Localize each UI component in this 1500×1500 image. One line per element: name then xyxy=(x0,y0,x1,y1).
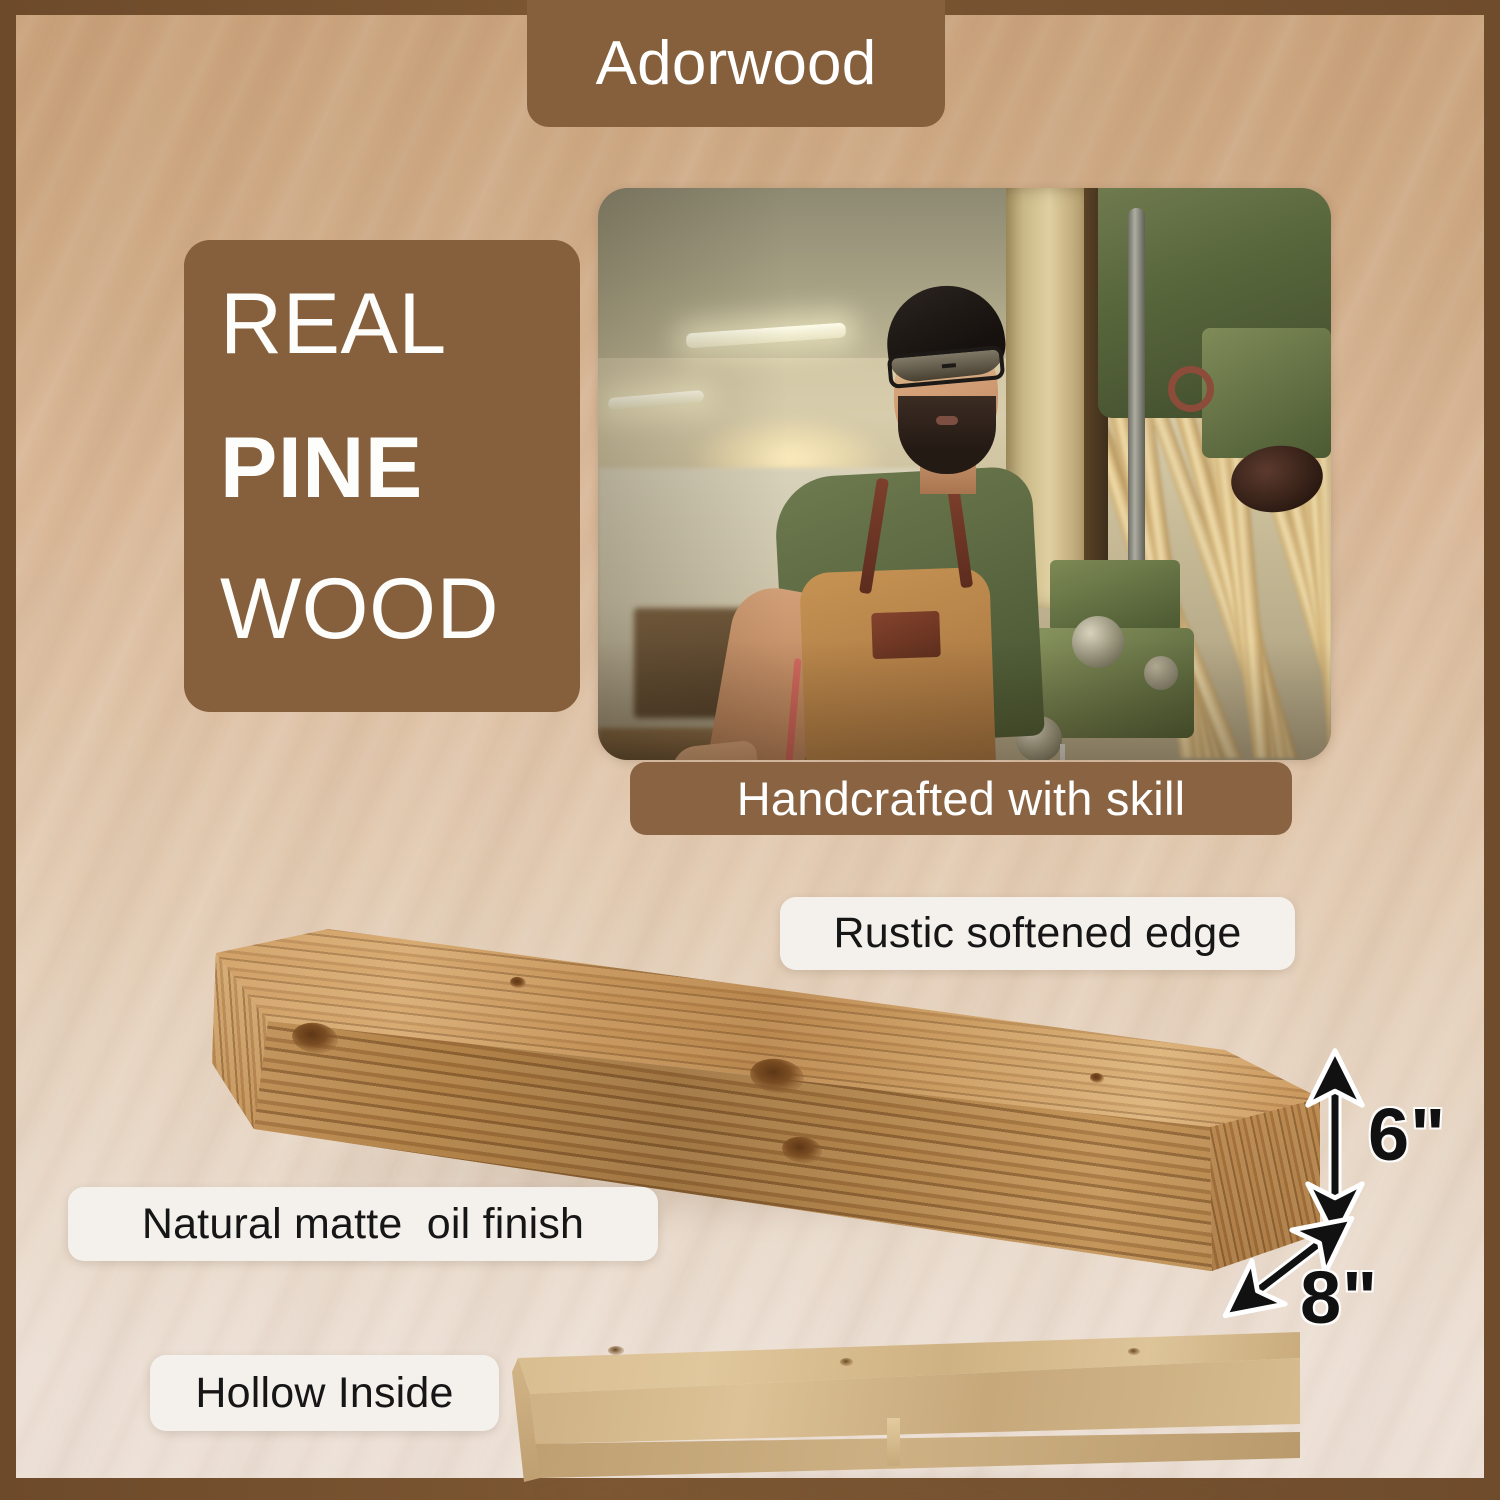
brand-name: Adorwood xyxy=(596,33,877,95)
product-infographic-poster: Adorwood REAL PINE WOOD xyxy=(0,0,1500,1500)
bandsaw-guide-block xyxy=(1050,560,1180,632)
feature-label-rustic-edge: Rustic softened edge xyxy=(780,897,1295,970)
hollow-shelf-divider xyxy=(887,1418,900,1466)
craftsman-workshop-photo xyxy=(598,188,1331,760)
dimension-height-label: 6" xyxy=(1368,1092,1446,1177)
headline-panel: REAL PINE WOOD xyxy=(184,240,580,712)
feature-label-oil-finish-text: Natural matte oil finish xyxy=(142,1200,584,1249)
photo-caption-text: Handcrafted with skill xyxy=(737,771,1185,826)
feature-label-rustic-edge-text: Rustic softened edge xyxy=(834,909,1242,958)
brand-badge: Adorwood xyxy=(527,0,945,127)
bandsaw-ring xyxy=(1168,366,1214,412)
dimension-depth-label: 8" xyxy=(1300,1255,1378,1340)
headline-line-wood: WOOD xyxy=(220,561,580,657)
bandsaw-guide-rod xyxy=(1128,208,1145,588)
feature-label-oil-finish: Natural matte oil finish xyxy=(68,1187,658,1261)
wood-knot xyxy=(1128,1348,1140,1355)
craftsman-mouth xyxy=(936,416,958,425)
feature-label-hollow-inside-text: Hollow Inside xyxy=(195,1369,453,1418)
wood-knot xyxy=(840,1358,853,1366)
wood-knot xyxy=(608,1346,624,1355)
feature-label-hollow-inside: Hollow Inside xyxy=(150,1355,499,1431)
bandsaw-head-lower xyxy=(1202,328,1331,458)
hollow-shelf-product-image xyxy=(510,1332,1300,1500)
headline-line-pine: PINE xyxy=(220,420,580,516)
photo-caption-badge: Handcrafted with skill xyxy=(630,762,1292,835)
photo-shade-bottom xyxy=(598,640,1331,760)
headline-line-real: REAL xyxy=(220,276,580,372)
